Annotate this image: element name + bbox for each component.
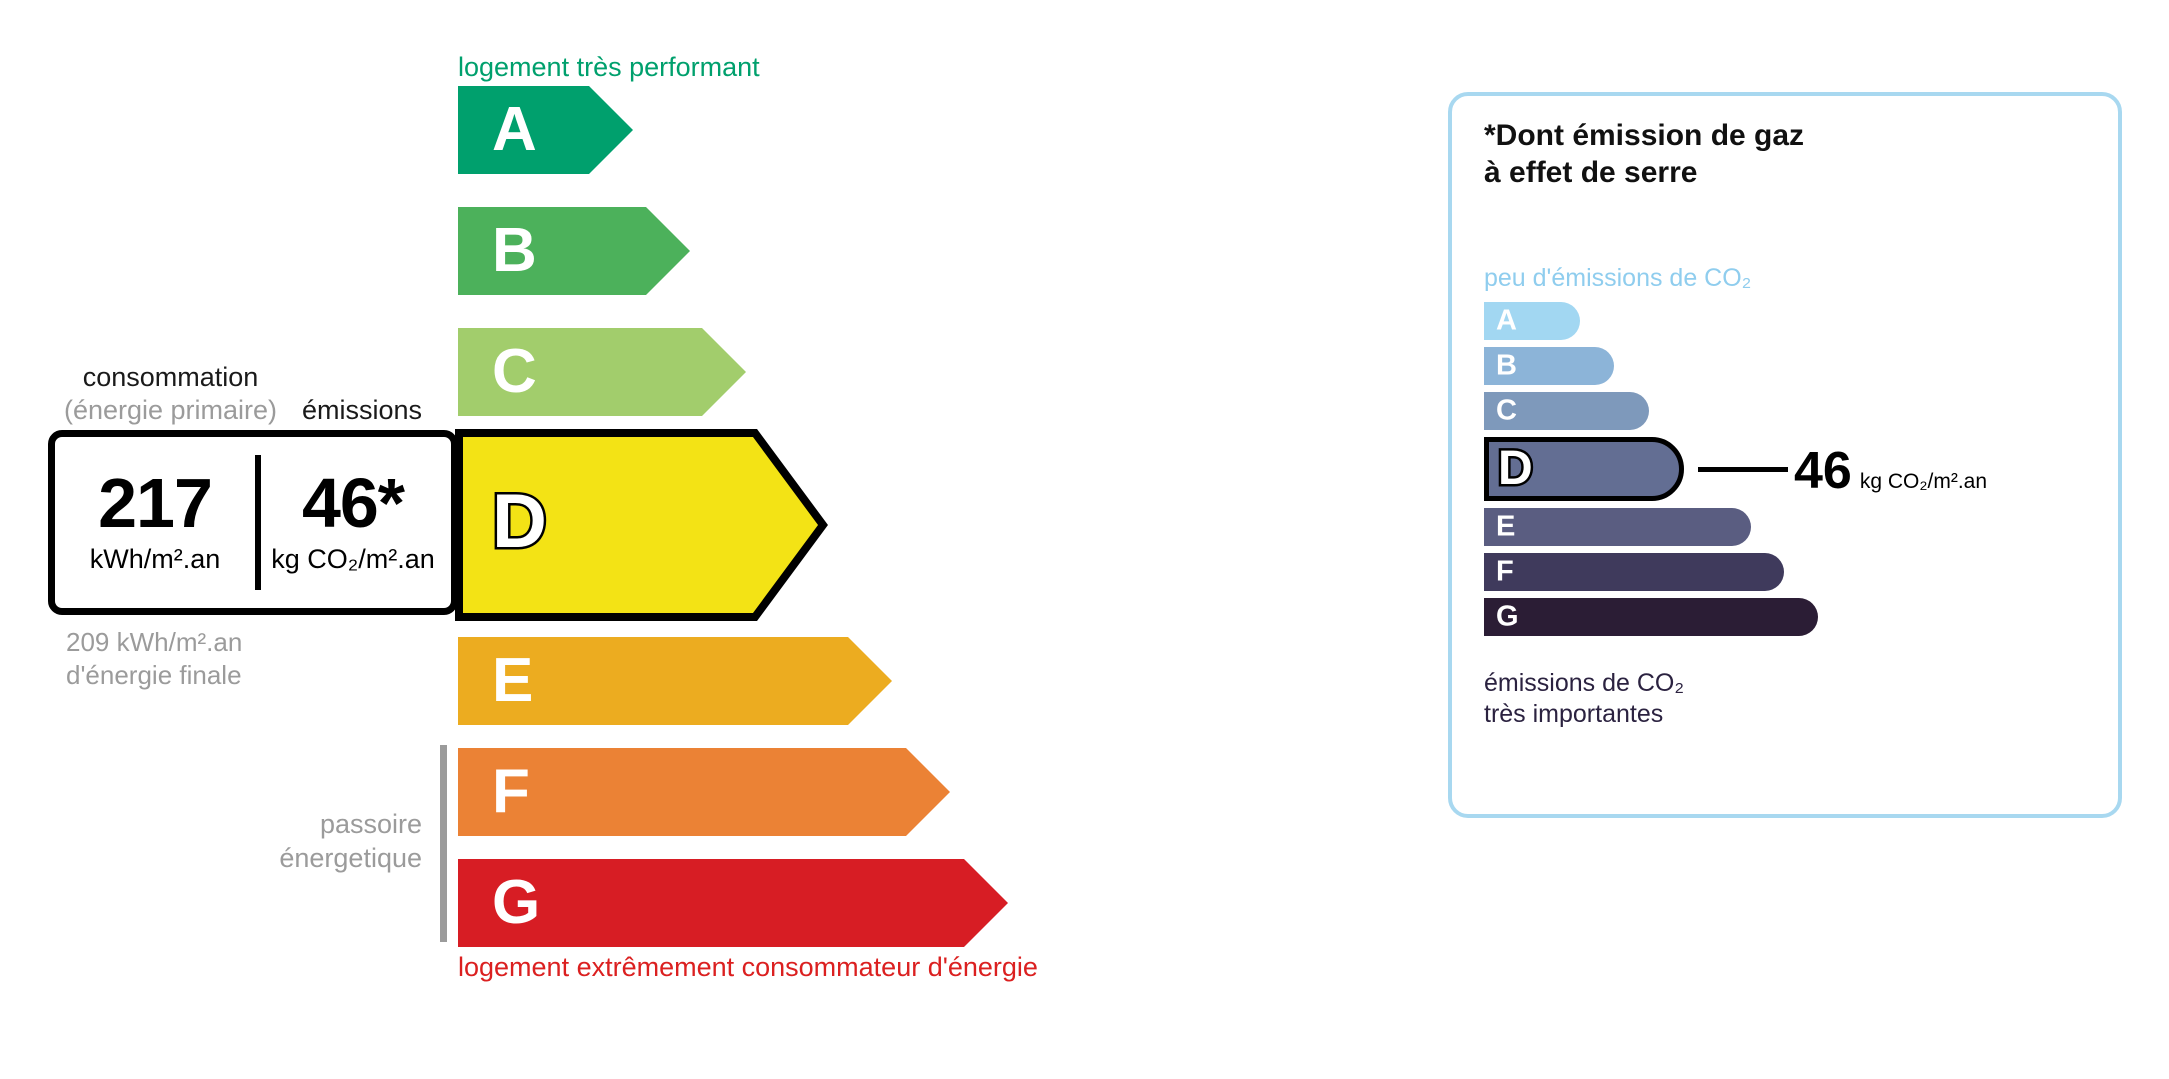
co2-callout-unit: kg CO₂/m².an — [1860, 470, 1987, 494]
energy-grade-a: A — [492, 99, 537, 161]
energy-bottom-label: logement extrêmement consommateur d'éner… — [458, 952, 1038, 983]
energy-arrow-f — [458, 748, 950, 836]
co2-callout: 46 kg CO₂/m².an — [1794, 445, 1987, 497]
energy-row-g[interactable]: G — [458, 859, 1008, 947]
co2-grade-c: C — [1496, 397, 1517, 426]
energy-grade-f: F — [492, 761, 530, 823]
consumption-cell: 217 kWh/m².an — [55, 437, 255, 608]
final-energy-note: 209 kWh/m².an d'énergie finale — [66, 626, 242, 691]
emissions-cell: 46* kg CO₂/m².an — [255, 437, 451, 608]
co2-grade-a: A — [1496, 307, 1517, 336]
co2-grade-d: D — [1498, 445, 1533, 493]
energy-grade-e: E — [492, 650, 533, 712]
energy-grade-b: B — [492, 220, 537, 282]
co2-bar-f — [1484, 553, 1784, 591]
emissions-value: 46* — [302, 470, 404, 537]
emissions-unit: kg CO₂/m².an — [271, 544, 435, 575]
energy-row-f[interactable]: F — [458, 748, 950, 836]
emissions-caption: émissions — [302, 395, 422, 426]
passoire-bracket — [440, 745, 447, 942]
co2-bar-g — [1484, 598, 1818, 636]
co2-leader-line — [1698, 467, 1788, 472]
energy-row-b[interactable]: B — [458, 207, 690, 295]
co2-row-b[interactable]: B — [1484, 347, 2104, 385]
co2-grade-f: F — [1496, 558, 1514, 587]
co2-grade-b: B — [1496, 352, 1517, 381]
co2-row-c[interactable]: C — [1484, 392, 2104, 430]
passoire-label: passoire énergetique — [200, 808, 422, 876]
co2-row-a[interactable]: A — [1484, 302, 2104, 340]
co2-row-e[interactable]: E — [1484, 508, 2104, 546]
consumption-subcaption: (énergie primaire) — [38, 395, 303, 426]
dpe-diagram: logement très performant A B C D E F — [0, 0, 2169, 1079]
co2-bottom-label: émissions de CO₂ très importantes — [1484, 668, 1684, 729]
co2-grade-e: E — [1496, 513, 1515, 542]
co2-panel: *Dont émission de gaz à effet de serre p… — [1448, 92, 2122, 818]
energy-row-d-selected[interactable]: D — [458, 432, 818, 612]
energy-grade-d: D — [492, 484, 547, 560]
co2-row-g[interactable]: G — [1484, 598, 2104, 636]
co2-row-f[interactable]: F — [1484, 553, 2104, 591]
co2-bar-e — [1484, 508, 1751, 546]
energy-arrow-g — [458, 859, 1008, 947]
energy-row-c[interactable]: C — [458, 328, 746, 416]
co2-callout-value: 46 — [1794, 445, 1852, 497]
energy-grade-c: C — [492, 341, 537, 403]
co2-rows: A B C D 46 kg CO₂/m².an E — [1484, 302, 2104, 643]
energy-row-e[interactable]: E — [458, 637, 892, 725]
consumption-caption: consommation — [48, 362, 293, 393]
co2-row-d-selected[interactable]: D 46 kg CO₂/m².an — [1484, 437, 2104, 501]
consumption-unit: kWh/m².an — [90, 544, 221, 575]
energy-arrow-a — [458, 86, 633, 174]
value-box: 217 kWh/m².an 46* kg CO₂/m².an — [48, 430, 458, 615]
co2-grade-g: G — [1496, 603, 1519, 632]
co2-top-label: peu d'émissions de CO₂ — [1484, 264, 1751, 293]
energy-grade-g: G — [492, 872, 540, 934]
consumption-value: 217 — [98, 470, 212, 537]
energy-row-a[interactable]: A — [458, 86, 633, 174]
co2-panel-title: *Dont émission de gaz à effet de serre — [1484, 118, 1804, 191]
